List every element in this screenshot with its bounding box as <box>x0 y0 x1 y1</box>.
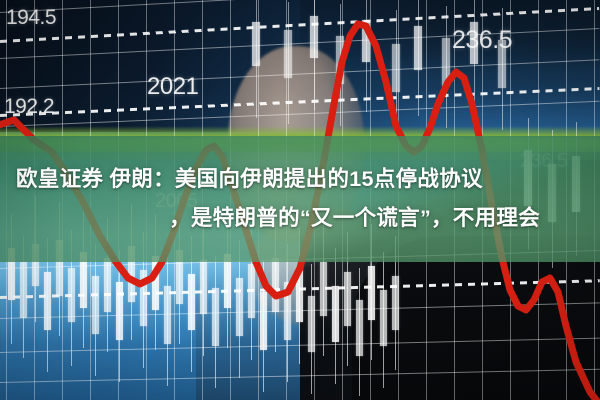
headline-line-2: ，是特朗普的“又一个谎言”，不用理会 <box>14 199 586 238</box>
headline-line-1: 欧皇证券 伊朗：美国向伊朗提出的15点停战协议 <box>14 160 586 199</box>
news-banner-image: 194.5192.22021236.52005236.5 欧皇证券 伊朗：美国向… <box>0 0 600 400</box>
headline-text-block: 欧皇证券 伊朗：美国向伊朗提出的15点停战协议 ，是特朗普的“又一个谎言”，不用… <box>0 136 600 262</box>
